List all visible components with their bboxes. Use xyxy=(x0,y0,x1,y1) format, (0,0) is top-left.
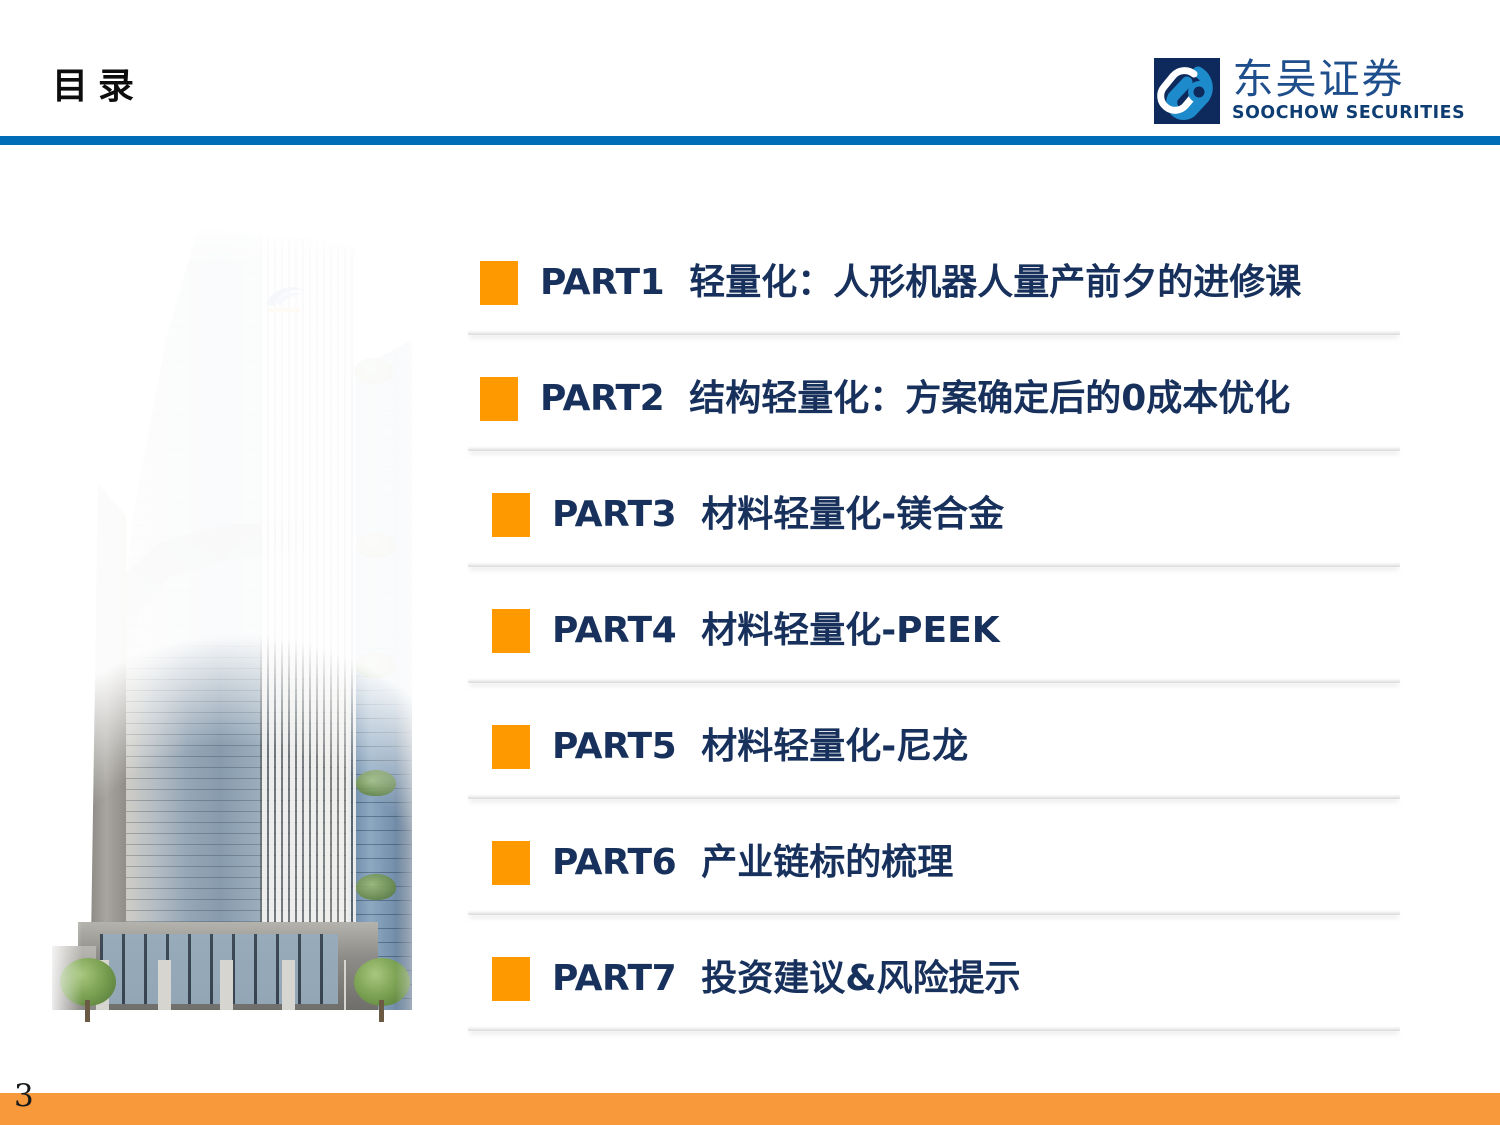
bullet-square-icon xyxy=(492,609,530,653)
toc-item-text: PART3 材料轻量化-镁合金 xyxy=(552,497,1004,533)
toc-item-part1[interactable]: PART1 轻量化：人形机器人量产前夕的进修课 xyxy=(480,252,1301,314)
toc-item-label: PART3 xyxy=(552,494,676,535)
bullet-square-icon xyxy=(480,377,518,421)
toc-item-part7[interactable]: PART7 投资建议&风险提示 xyxy=(492,948,1021,1010)
bullet-square-icon xyxy=(492,841,530,885)
toc-separator xyxy=(468,446,1400,451)
toc-separator xyxy=(468,678,1400,683)
toc-item-part6[interactable]: PART6 产业链标的梳理 xyxy=(492,832,953,894)
toc-row: PART4 材料轻量化-PEEK xyxy=(0,600,1500,716)
toc-item-title: 材料轻量化-尼龙 xyxy=(701,726,968,767)
toc-separator xyxy=(468,562,1400,567)
toc-item-label: PART6 xyxy=(552,842,676,883)
toc-item-part2[interactable]: PART2 结构轻量化：方案确定后的0成本优化 xyxy=(480,368,1290,430)
toc-item-part4[interactable]: PART4 材料轻量化-PEEK xyxy=(492,600,1000,662)
toc-row: PART3 材料轻量化-镁合金 xyxy=(0,484,1500,600)
toc-row: PART6 产业链标的梳理 xyxy=(0,832,1500,948)
page-title: 目录 xyxy=(52,68,144,104)
toc-item-text: PART2 结构轻量化：方案确定后的0成本优化 xyxy=(540,381,1290,417)
toc-item-text: PART7 投资建议&风险提示 xyxy=(552,961,1021,997)
toc-item-label: PART7 xyxy=(552,958,676,999)
header-divider xyxy=(0,136,1500,145)
toc-row: PART1 轻量化：人形机器人量产前夕的进修课 xyxy=(0,252,1500,368)
toc-separator xyxy=(468,1026,1400,1031)
toc-item-text: PART4 材料轻量化-PEEK xyxy=(552,613,1000,649)
toc-separator xyxy=(468,794,1400,799)
bullet-square-icon xyxy=(492,725,530,769)
brand-wordmark: 东吴证券 SOOCHOW SECURITIES xyxy=(1232,59,1468,123)
toc-item-title: 材料轻量化-镁合金 xyxy=(701,494,1004,535)
toc-item-part3[interactable]: PART3 材料轻量化-镁合金 xyxy=(492,484,1004,546)
page-number: 3 xyxy=(14,1081,34,1112)
toc-item-title: 材料轻量化-PEEK xyxy=(701,610,999,651)
toc-item-part5[interactable]: PART5 材料轻量化-尼龙 xyxy=(492,716,968,778)
toc-item-label: PART2 xyxy=(540,378,664,419)
bullet-square-icon xyxy=(480,261,518,305)
footer-bar xyxy=(0,1093,1500,1125)
toc-row: PART7 投资建议&风险提示 xyxy=(0,948,1500,1064)
toc-item-text: PART5 材料轻量化-尼龙 xyxy=(552,729,968,765)
toc-item-title: 结构轻量化：方案确定后的0成本优化 xyxy=(689,378,1290,419)
toc-item-label: PART5 xyxy=(552,726,676,767)
soochow-securities-logo-icon xyxy=(1154,58,1220,124)
toc-separator xyxy=(468,330,1400,335)
toc-item-label: PART1 xyxy=(540,262,664,303)
bullet-square-icon xyxy=(492,493,530,537)
toc-item-text: PART6 产业链标的梳理 xyxy=(552,845,953,881)
brand-name-en: SOOCHOW SECURITIES xyxy=(1232,105,1465,123)
toc-item-title: 投资建议&风险提示 xyxy=(701,958,1020,999)
toc-item-title: 产业链标的梳理 xyxy=(701,842,953,883)
toc-item-text: PART1 轻量化：人形机器人量产前夕的进修课 xyxy=(540,265,1301,301)
toc-separator xyxy=(468,910,1400,915)
bullet-square-icon xyxy=(492,957,530,1001)
toc-item-title: 轻量化：人形机器人量产前夕的进修课 xyxy=(689,262,1301,303)
brand-name-cn: 东吴证券 xyxy=(1232,59,1468,100)
slide-header: 目录 东吴证券 SOOCHOW SECURITIES xyxy=(0,0,1500,142)
toc-row: PART5 材料轻量化-尼龙 xyxy=(0,716,1500,832)
toc-row: PART2 结构轻量化：方案确定后的0成本优化 xyxy=(0,368,1500,484)
brand-logo: 东吴证券 SOOCHOW SECURITIES xyxy=(1154,52,1468,130)
toc-item-label: PART4 xyxy=(552,610,676,651)
